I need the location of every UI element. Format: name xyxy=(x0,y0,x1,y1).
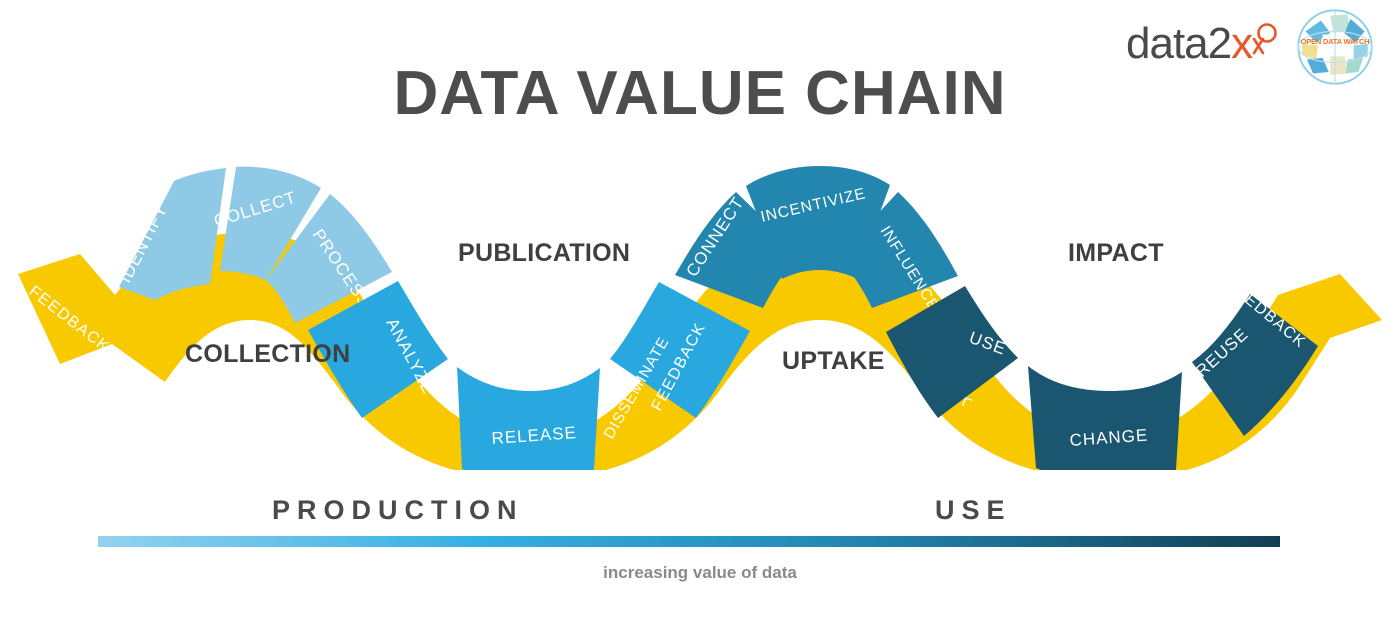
phase-label-publication: PUBLICATION xyxy=(458,239,630,268)
open-data-watch-logo-text: OPEN DATA WATCH xyxy=(1296,38,1374,46)
value-caption: increasing value of data xyxy=(0,563,1400,583)
segment-change[interactable] xyxy=(1028,366,1182,470)
data2x-logo-mark: x xyxy=(1231,19,1252,68)
segment-release[interactable] xyxy=(457,367,600,470)
data2x-logo-text: data2 xyxy=(1126,19,1231,68)
data-value-chain-diagram: .seg-label { font-family: "Liberation Sa… xyxy=(0,150,1400,470)
axis-label-production: PRODUCTION xyxy=(272,495,524,526)
value-gradient-bar xyxy=(98,536,1280,547)
phase-label-collection: COLLECTION xyxy=(185,340,351,369)
page-title: DATA VALUE CHAIN xyxy=(0,58,1400,129)
open-data-watch-logo xyxy=(1296,8,1374,86)
female-symbol-icon xyxy=(1252,22,1278,62)
phase-label-impact: IMPACT xyxy=(1068,239,1164,268)
data2x-logo: data2x xyxy=(1126,22,1278,66)
infographic-canvas: DATA VALUE CHAIN data2x OPEN DATA WATCH … xyxy=(0,0,1400,642)
phase-label-uptake: UPTAKE xyxy=(782,347,885,376)
axis-label-use: USE xyxy=(935,495,1012,526)
